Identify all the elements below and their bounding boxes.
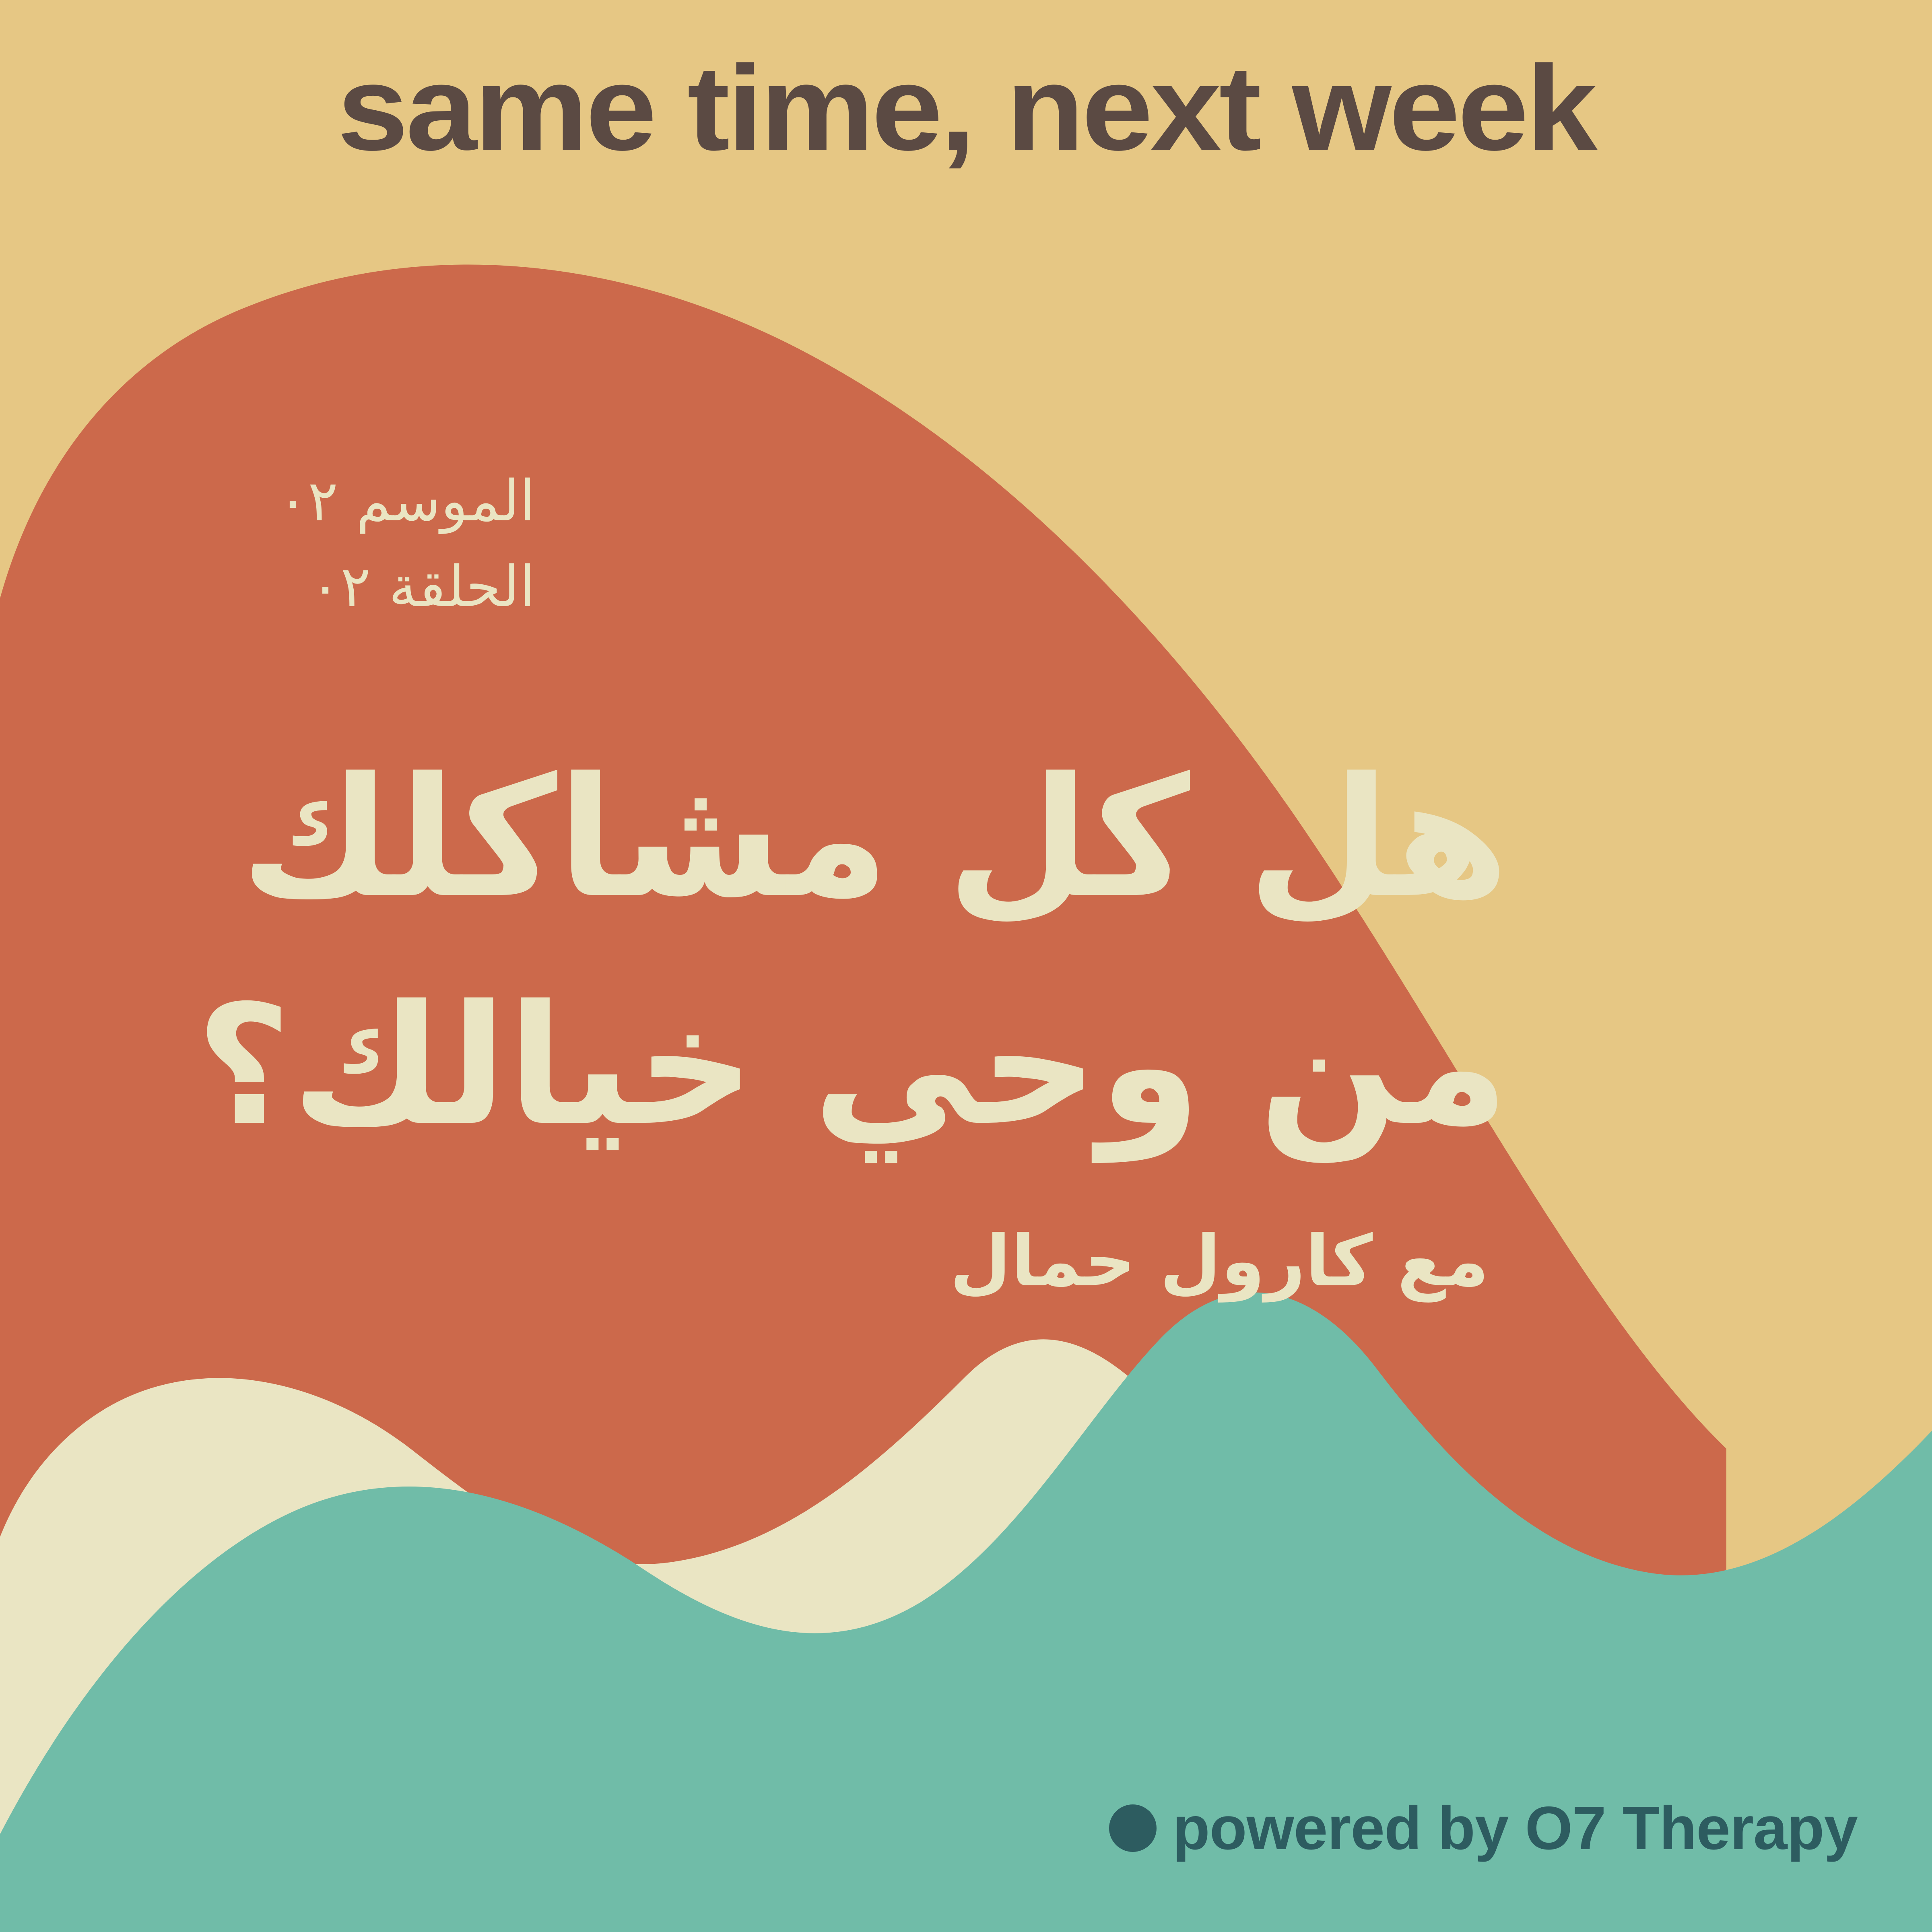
brand-footer: powered by O7 Therapy: [1109, 1798, 1858, 1859]
episode-headline: هل كل مشاكلك من وحي خيالك؟: [121, 724, 1509, 1180]
headline-line-1: هل كل مشاكلك: [121, 724, 1509, 952]
podcast-episode-poster: same time, next week الموسم ٠٢ الحلقة ٠٢…: [0, 0, 1932, 1932]
powered-by-label: powered by O7 Therapy: [1173, 1798, 1858, 1859]
season-label: الموسم ٠٢: [193, 459, 535, 544]
page-title: same time, next week: [0, 47, 1932, 168]
headline-line-2: من وحي خيالك؟: [121, 952, 1509, 1180]
brand-dot-icon: [1109, 1804, 1157, 1852]
guest-credit: مع كارول حمال: [604, 1219, 1489, 1304]
episode-label: الحلقة ٠٢: [193, 544, 535, 630]
episode-meta: الموسم ٠٢ الحلقة ٠٢: [193, 459, 535, 630]
